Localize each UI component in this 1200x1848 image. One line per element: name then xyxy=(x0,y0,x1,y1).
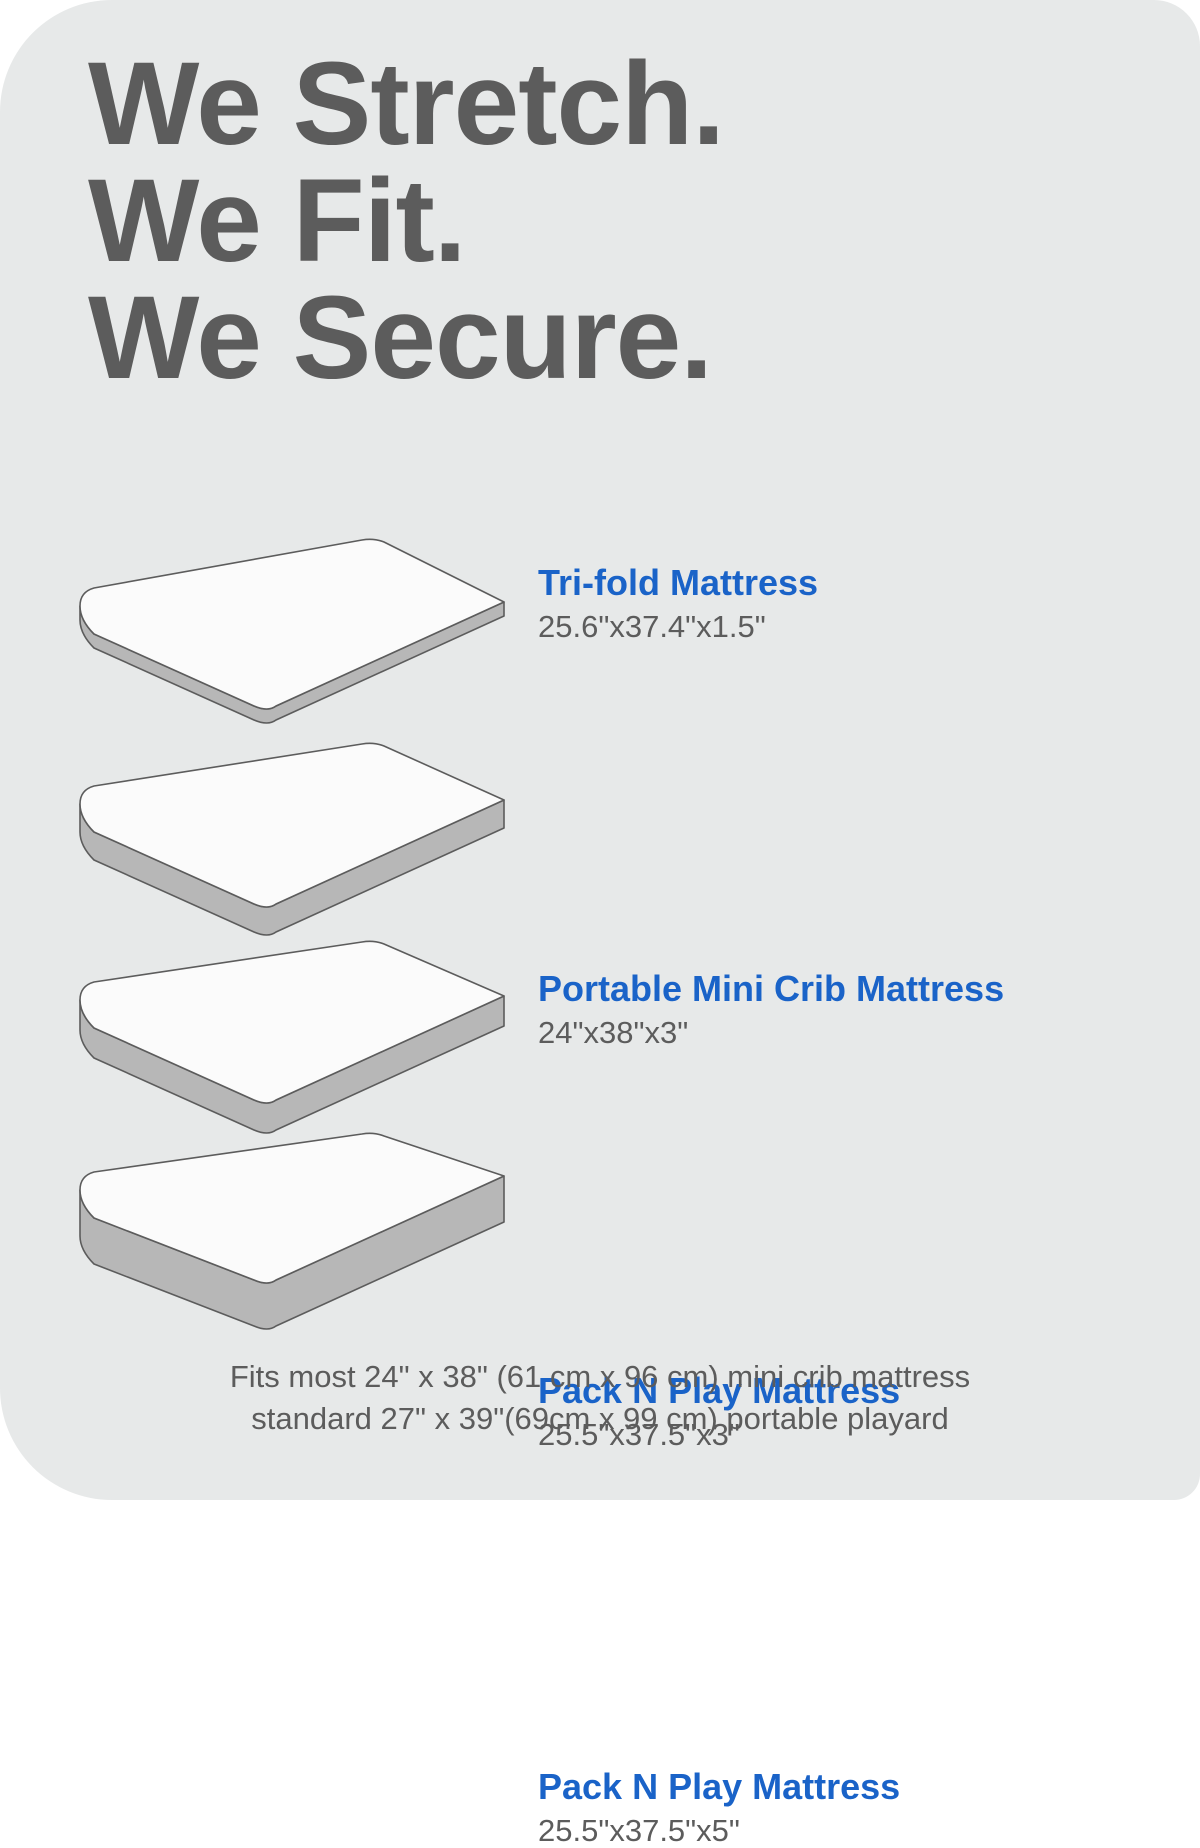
product-row: Pack N Play Mattress 25.5"x37.5"x5" xyxy=(0,1120,1200,1320)
product-text-block: Pack N Play Mattress 25.5"x37.5"x5" xyxy=(538,1768,1178,1847)
product-title: Pack N Play Mattress xyxy=(538,1768,1178,1806)
mattress-slab-icon xyxy=(62,742,522,942)
footer-line-2: standard 27" x 39"(69cm x 99 cm) portabl… xyxy=(0,1398,1200,1440)
product-dimensions: 25.6"x37.4"x1.5" xyxy=(538,611,1178,644)
mattress-slab-icon xyxy=(62,1132,522,1332)
product-text-block: Tri-fold Mattress 25.6"x37.4"x1.5" xyxy=(538,564,1178,643)
headline-block: We Stretch. We Fit. We Secure. xyxy=(88,46,988,396)
product-row: Portable Mini Crib Mattress 24"x38"x3" xyxy=(0,720,1200,920)
headline-line-3: We Secure. xyxy=(88,280,988,397)
product-list: Tri-fold Mattress 25.6"x37.4"x1.5" Porta… xyxy=(0,520,1200,1320)
footer-note: Fits most 24" x 38" (61 cm x 96 cm) mini… xyxy=(0,1356,1200,1440)
product-row: Pack N Play Mattress 25.5"x37.5"x3" xyxy=(0,920,1200,1120)
product-title: Tri-fold Mattress xyxy=(538,564,1178,602)
mattress-slab-icon xyxy=(62,940,522,1140)
product-dimensions: 25.5"x37.5"x5" xyxy=(538,1815,1178,1848)
headline-line-2: We Fit. xyxy=(88,163,988,280)
footer-line-1: Fits most 24" x 38" (61 cm x 96 cm) mini… xyxy=(0,1356,1200,1398)
headline-line-1: We Stretch. xyxy=(88,46,988,163)
product-row: Tri-fold Mattress 25.6"x37.4"x1.5" xyxy=(0,520,1200,720)
infographic-panel: We Stretch. We Fit. We Secure. Tri-fold … xyxy=(0,0,1200,1500)
mattress-slab-icon xyxy=(62,538,522,738)
